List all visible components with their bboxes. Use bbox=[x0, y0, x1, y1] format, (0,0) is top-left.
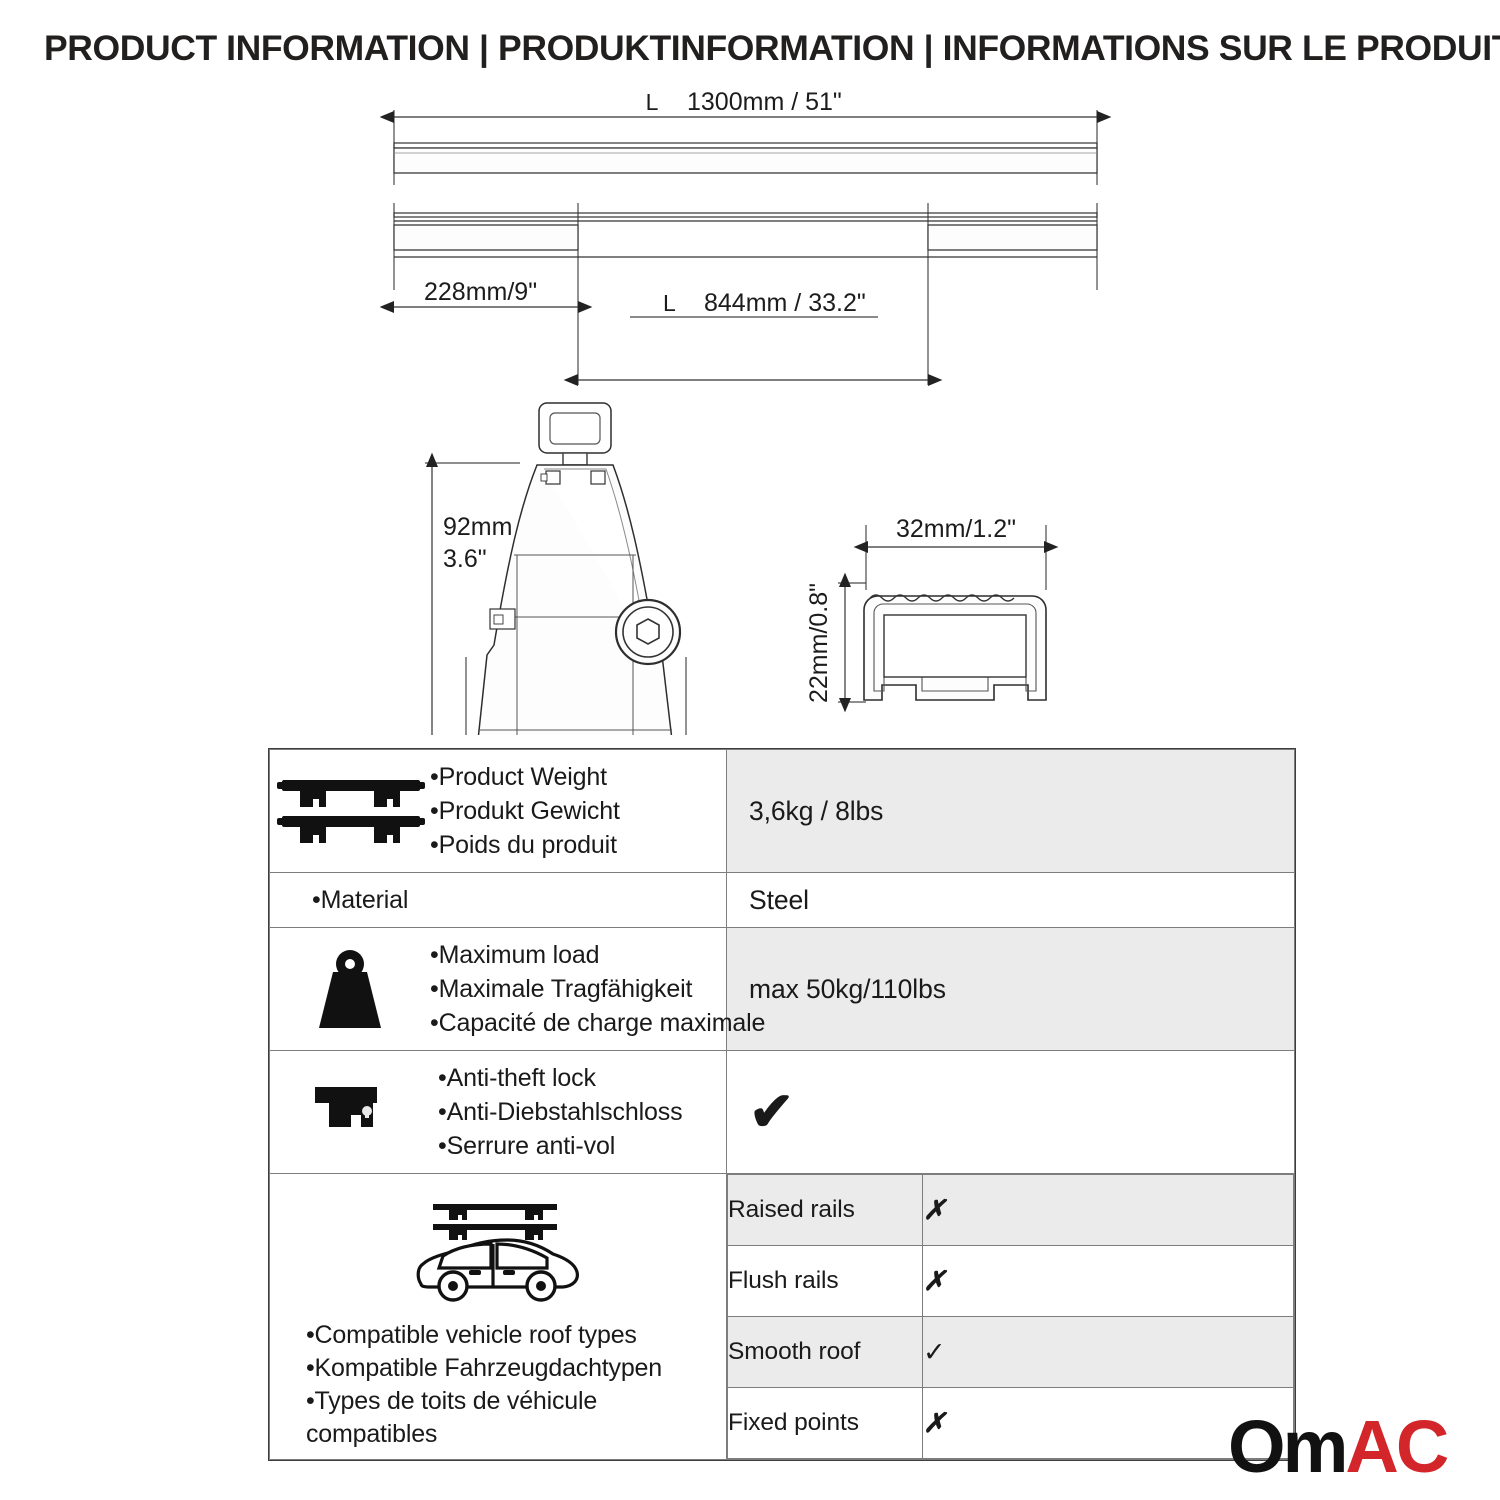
compat-row-value: ✓ bbox=[923, 1317, 1294, 1388]
check-icon: ✓ bbox=[923, 1337, 946, 1367]
spec-label-compat: •Compatible vehicle roof types •Kompatib… bbox=[270, 1174, 727, 1460]
bar-length-value: 1300mm / 51" bbox=[687, 88, 842, 116]
logo-letter-m: m bbox=[1283, 1405, 1346, 1488]
spec-label-line: •Maximum load bbox=[430, 938, 765, 972]
cross-icon: ✗ bbox=[923, 1408, 946, 1438]
profile-height-value: 22mm/0.8" bbox=[805, 583, 833, 703]
compat-row-name: Fixed points bbox=[728, 1388, 923, 1459]
roof-rack-bars-icon bbox=[270, 774, 430, 848]
span-label: L bbox=[663, 290, 676, 316]
technical-drawing: L 1300mm / 51" 228mm/9" L 844mm / 33.2" bbox=[0, 85, 1500, 735]
foot-offset-value: 228mm/9" bbox=[424, 278, 537, 306]
compat-row-value: ✗ bbox=[923, 1175, 1294, 1246]
spec-label-line: •Maximale Tragfähigkeit bbox=[430, 972, 765, 1006]
spec-label-weight: •Product Weight •Produkt Gewicht •Poids … bbox=[270, 750, 727, 873]
bar-length-label: L bbox=[646, 89, 659, 115]
spec-label-line: •Poids du produit bbox=[430, 828, 620, 862]
span-value: 844mm / 33.2" bbox=[704, 289, 866, 317]
car-with-roof-rack-icon bbox=[407, 1196, 585, 1313]
table-row: •Anti-theft lock •Anti-Diebstahlschloss … bbox=[270, 1051, 1295, 1174]
foot-height-value-line2: 3.6" bbox=[443, 545, 487, 573]
logo-letter-o: O bbox=[1228, 1405, 1283, 1488]
spec-table: •Product Weight •Produkt Gewicht •Poids … bbox=[268, 748, 1296, 1461]
omac-logo: OmAC bbox=[1228, 1410, 1446, 1484]
logo-letters-ac: AC bbox=[1345, 1405, 1446, 1488]
table-row: •Product Weight •Produkt Gewicht •Poids … bbox=[270, 750, 1295, 873]
compat-row-flush-rails: Flush rails ✗ bbox=[728, 1246, 1294, 1317]
spec-label-line: •Material bbox=[312, 883, 408, 917]
spec-value-weight: 3,6kg / 8lbs bbox=[727, 750, 1295, 873]
spec-label-line: •Anti-theft lock bbox=[438, 1061, 682, 1095]
compat-subtable: Raised rails ✗ Flush rails ✗ bbox=[727, 1174, 1295, 1460]
foot-height-value-line1: 92mm bbox=[443, 513, 512, 541]
compat-row-name: Flush rails bbox=[728, 1246, 923, 1317]
check-icon: ✔ bbox=[749, 1085, 794, 1139]
compat-row-fixed-points: Fixed points ✗ bbox=[728, 1388, 1294, 1459]
compat-row-name: Raised rails bbox=[728, 1175, 923, 1246]
page-title: PRODUCT INFORMATION | PRODUKTINFORMATION… bbox=[44, 28, 1464, 69]
compat-label-line: compatibles bbox=[306, 1418, 662, 1451]
lock-icon bbox=[270, 1081, 430, 1143]
weight-icon bbox=[270, 948, 430, 1030]
table-row: •Material Steel bbox=[270, 873, 1295, 928]
spec-label-line: •Serrure anti-vol bbox=[438, 1129, 682, 1163]
table-row-compat: •Compatible vehicle roof types •Kompatib… bbox=[270, 1174, 1295, 1460]
compat-label-line: •Compatible vehicle roof types bbox=[306, 1319, 662, 1352]
compat-row-value: ✗ bbox=[923, 1246, 1294, 1317]
compat-row-name: Smooth roof bbox=[728, 1317, 923, 1388]
spec-label-line: •Produkt Gewicht bbox=[430, 794, 620, 828]
compat-row-smooth-roof: Smooth roof ✓ bbox=[728, 1317, 1294, 1388]
compat-label-line: •Types de toits de véhicule bbox=[306, 1385, 662, 1418]
spec-label-anti-theft: •Anti-theft lock •Anti-Diebstahlschloss … bbox=[270, 1051, 727, 1174]
spec-label-line: •Product Weight bbox=[430, 760, 620, 794]
cross-icon: ✗ bbox=[923, 1195, 946, 1225]
spec-label-line: •Capacité de charge maximale bbox=[430, 1006, 765, 1040]
spec-label-line: •Anti-Diebstahlschloss bbox=[438, 1095, 682, 1129]
cross-icon: ✗ bbox=[923, 1266, 946, 1296]
spec-label-max-load: •Maximum load •Maximale Tragfähigkeit •C… bbox=[270, 928, 727, 1051]
spec-label-material: •Material bbox=[270, 873, 727, 928]
compat-label-line: •Kompatible Fahrzeugdachtypen bbox=[306, 1352, 662, 1385]
profile-width-value: 32mm/1.2" bbox=[896, 515, 1016, 543]
spec-value-max-load: max 50kg/110lbs bbox=[727, 928, 1295, 1051]
compat-row-raised-rails: Raised rails ✗ bbox=[728, 1175, 1294, 1246]
table-row: •Maximum load •Maximale Tragfähigkeit •C… bbox=[270, 928, 1295, 1051]
spec-value-material: Steel bbox=[727, 873, 1295, 928]
spec-value-anti-theft: ✔ bbox=[727, 1051, 1295, 1174]
